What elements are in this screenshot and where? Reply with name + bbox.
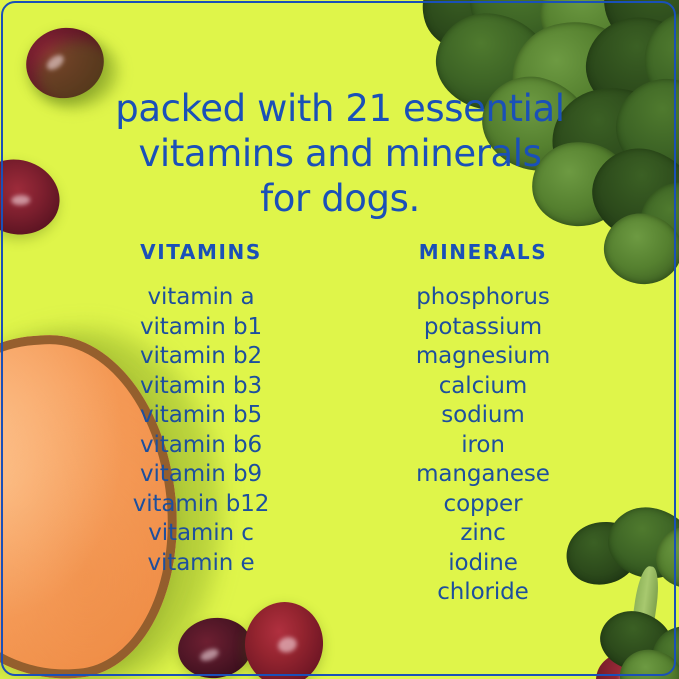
list-item: magnesium <box>360 342 606 372</box>
cranberry-left-edge-image <box>0 150 69 245</box>
cranberry-top-left-image <box>20 21 111 106</box>
list-item: iron <box>360 431 606 461</box>
cranberry-highlight <box>11 195 30 206</box>
kale-top-right-image <box>408 0 679 282</box>
list-item: calcium <box>360 372 606 402</box>
list-item: sodium <box>360 401 606 431</box>
infographic-canvas: packed with 21 essential vitamins and mi… <box>0 0 679 679</box>
cranberry-bottom-large-image <box>241 598 327 679</box>
cranberry-highlight <box>276 635 298 655</box>
kale-bottom-right-image <box>560 508 679 679</box>
list-item: phosphorus <box>360 283 606 313</box>
vitamins-column-header: VITAMINS <box>78 240 324 264</box>
list-item: manganese <box>360 460 606 490</box>
list-item: vitamin a <box>78 283 324 313</box>
list-item: potassium <box>360 313 606 343</box>
cranberry-shadow <box>30 33 124 115</box>
cranberry-highlight <box>199 647 220 663</box>
